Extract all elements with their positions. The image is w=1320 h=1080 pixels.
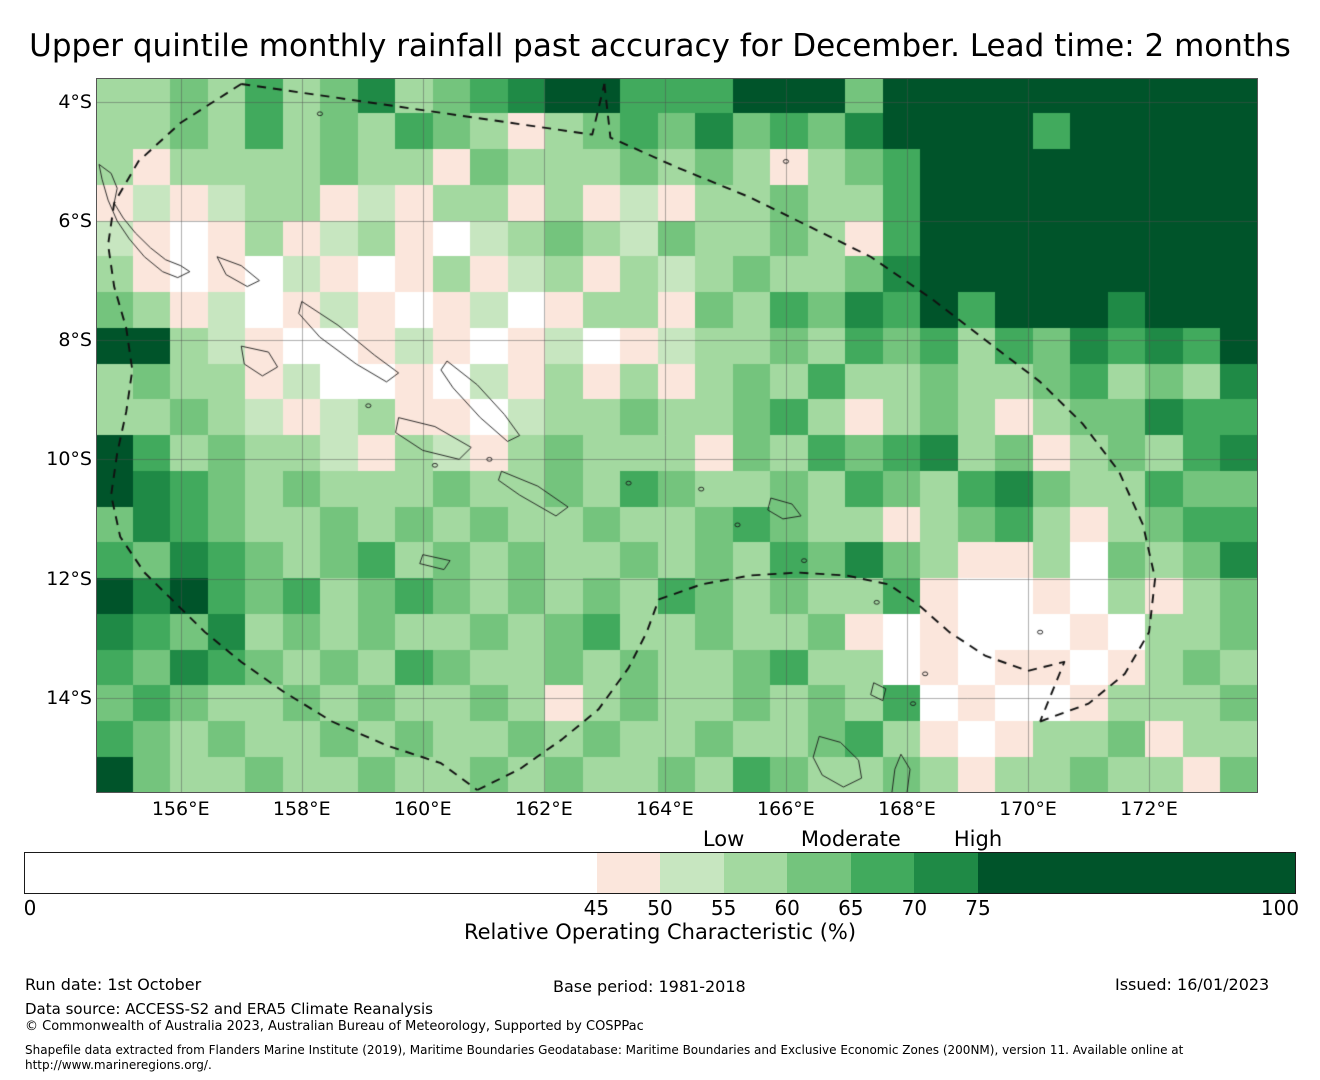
colorbar-tick-3: 55 — [711, 896, 736, 920]
lat-tick-5: 14°S — [46, 687, 92, 709]
colorbar-tick-6: 70 — [902, 896, 927, 920]
colorbar-category-moderate: Moderate — [801, 827, 901, 851]
data-source-text: Data source: ACCESS-S2 and ERA5 Climate … — [25, 1000, 433, 1018]
colorbar-category-high: High — [954, 827, 1002, 851]
colorbar-segment-4 — [787, 853, 851, 893]
colorbar-category-low: Low — [703, 827, 744, 851]
run-date-text: Run date: 1st October — [25, 975, 201, 994]
colorbar-segment-5 — [851, 853, 915, 893]
colorbar-tick-1: 45 — [584, 896, 609, 920]
lon-tick-8: 172°E — [1120, 798, 1178, 820]
lon-tick-1: 158°E — [273, 798, 331, 820]
lat-tick-4: 12°S — [46, 568, 92, 590]
colorbar-container — [24, 852, 1296, 894]
colorbar-segment-6 — [914, 853, 978, 893]
lon-tick-3: 162°E — [515, 798, 573, 820]
colorbar-axis-label: Relative Operating Characteristic (%) — [0, 920, 1320, 944]
map-plot-area — [96, 78, 1258, 793]
lon-tick-5: 166°E — [757, 798, 815, 820]
colorbar-segment-2 — [660, 853, 724, 893]
lon-tick-2: 160°E — [394, 798, 452, 820]
lon-tick-7: 170°E — [999, 798, 1057, 820]
colorbar-segment-0 — [25, 853, 597, 893]
colorbar-segment-7 — [978, 853, 1296, 893]
lon-tick-6: 168°E — [878, 798, 936, 820]
colorbar-segment-1 — [597, 853, 661, 893]
colorbar — [24, 852, 1296, 894]
lat-tick-2: 8°S — [58, 329, 92, 351]
colorbar-tick-0: 0 — [24, 896, 37, 920]
rainfall-accuracy-heatmap — [96, 78, 1258, 793]
page-title: Upper quintile monthly rainfall past acc… — [0, 28, 1320, 64]
lon-tick-0: 156°E — [152, 798, 210, 820]
issued-date-text: Issued: 16/01/2023 — [1115, 975, 1269, 994]
lat-tick-0: 4°S — [58, 91, 92, 113]
colorbar-tick-5: 65 — [838, 896, 863, 920]
base-period-text: Base period: 1981-2018 — [553, 977, 746, 996]
colorbar-tick-4: 60 — [774, 896, 799, 920]
shapefile-attribution-line2: http://www.marineregions.org/. — [25, 1058, 212, 1072]
colorbar-tick-2: 50 — [647, 896, 672, 920]
copyright-text: © Commonwealth of Australia 2023, Austra… — [25, 1019, 644, 1034]
lat-tick-1: 6°S — [58, 210, 92, 232]
lat-tick-3: 10°S — [46, 448, 92, 470]
lon-tick-4: 164°E — [636, 798, 694, 820]
colorbar-tick-8: 100 — [1261, 896, 1299, 920]
colorbar-segment-3 — [724, 853, 788, 893]
colorbar-tick-7: 75 — [965, 896, 990, 920]
shapefile-attribution-line1: Shapefile data extracted from Flanders M… — [25, 1043, 1183, 1057]
